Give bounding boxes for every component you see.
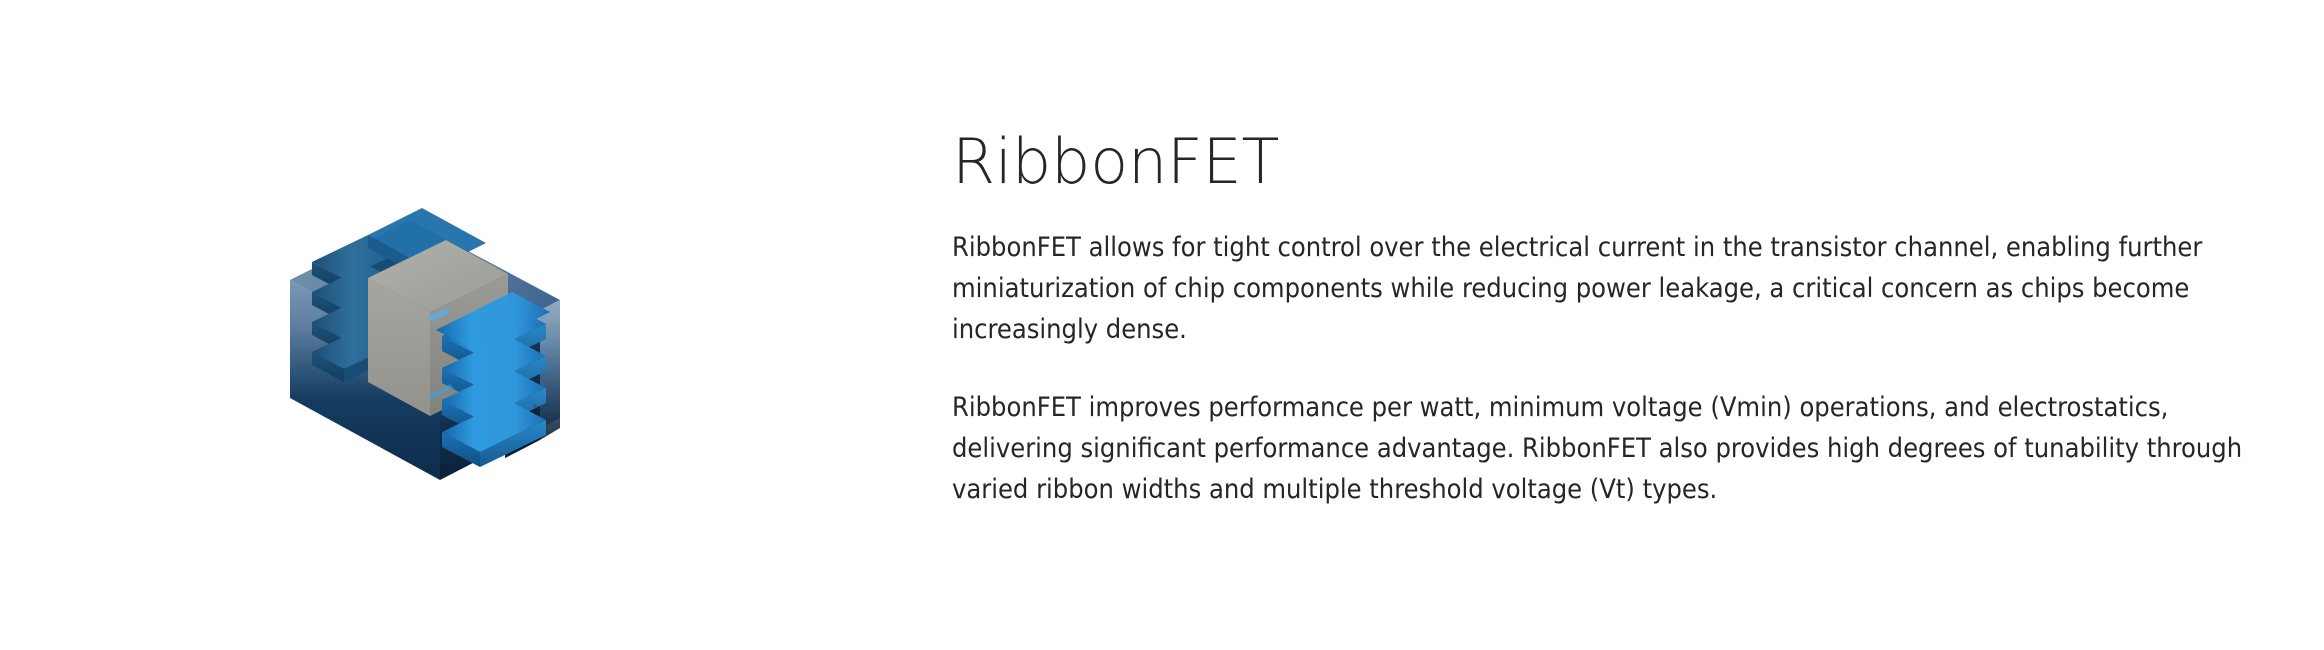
- page-title: RibbonFET: [952, 126, 2262, 197]
- ribbonfet-transistor-3d-illustration: [250, 140, 610, 520]
- ribbonfet-svg: [250, 140, 610, 520]
- base-detail-dot: [533, 404, 537, 408]
- description-paragraph-2: RibbonFET improves performance per watt,…: [952, 387, 2252, 510]
- description-paragraph-1: RibbonFET allows for tight control over …: [952, 227, 2252, 350]
- ribbonfet-text-column: RibbonFET RibbonFET allows for tight con…: [952, 126, 2262, 510]
- ribbonfet-feature-section: RibbonFET RibbonFET allows for tight con…: [0, 0, 2324, 650]
